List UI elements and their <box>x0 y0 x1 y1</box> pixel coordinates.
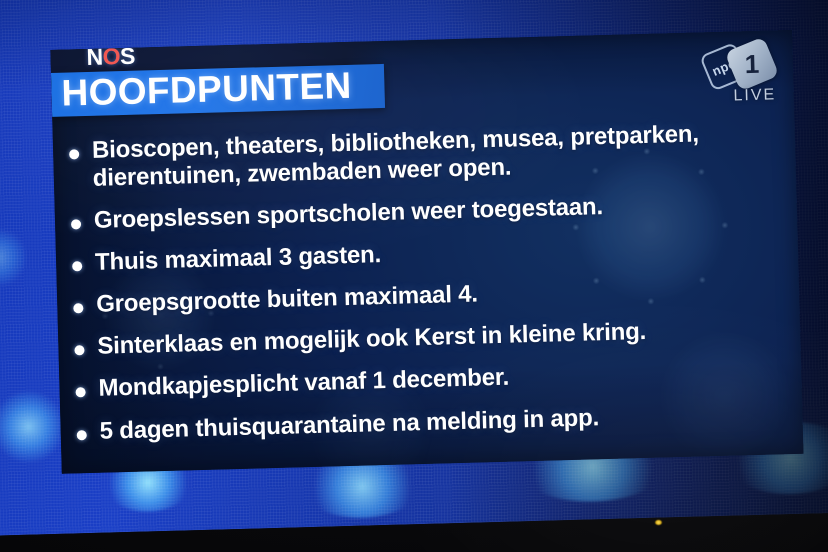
headline-text: Mondkapjesplicht vanaf 1 december. <box>98 364 509 403</box>
broadcast-header: NOS HOOFDPUNTEN <box>50 37 442 117</box>
bullet-point-icon <box>72 261 82 271</box>
list-item: 5 dagen thuisquarantaine na melding in a… <box>76 399 794 446</box>
tv-standby-led <box>655 520 662 525</box>
headlines-list: Bioscopen, theaters, bibliotheken, musea… <box>69 118 795 460</box>
list-item: Thuis maximaal 3 gasten. <box>72 230 790 277</box>
tv-screen: NOS HOOFDPUNTEN npo 1 LIVE <box>0 0 828 536</box>
channel-number-label: 1 <box>730 42 773 85</box>
live-status-badge: LIVE <box>722 86 788 106</box>
headline-text: Sinterklaas en mogelijk ook Kerst in kle… <box>97 318 646 361</box>
title-banner: HOOFDPUNTEN <box>51 64 385 117</box>
bullet-point-icon <box>69 149 79 159</box>
channel-number-icon: 1 <box>725 37 780 92</box>
headline-text: Groepslessen sportscholen weer toegestaa… <box>94 193 604 235</box>
bullet-point-icon <box>75 388 85 398</box>
headline-text: Groepsgrootte buiten maximaal 4. <box>96 281 478 319</box>
bullet-point-icon <box>71 219 81 229</box>
headline-text: Bioscopen, theaters, bibliotheken, musea… <box>92 118 788 193</box>
list-item: Bioscopen, theaters, bibliotheken, musea… <box>69 118 788 194</box>
headline-text: Thuis maximaal 3 gasten. <box>95 241 382 277</box>
list-item: Sinterklaas en mogelijk ook Kerst in kle… <box>74 314 792 361</box>
bullet-point-icon <box>77 430 87 440</box>
page-title: HOOFDPUNTEN <box>61 64 352 116</box>
list-item: Mondkapjesplicht vanaf 1 december. <box>75 356 793 403</box>
list-item: Groepsgrootte buiten maximaal 4. <box>73 272 791 319</box>
list-item: Groepslessen sportscholen weer toegestaa… <box>71 188 789 235</box>
bullet-point-icon <box>73 303 83 313</box>
headline-text: 5 dagen thuisquarantaine na melding in a… <box>99 404 599 446</box>
bullet-point-icon <box>74 346 84 356</box>
channel-logo: npo 1 LIVE <box>702 40 790 118</box>
tv-photograph: NOS HOOFDPUNTEN npo 1 LIVE <box>0 0 828 552</box>
headlines-panel: NOS HOOFDPUNTEN npo 1 LIVE <box>50 30 803 474</box>
